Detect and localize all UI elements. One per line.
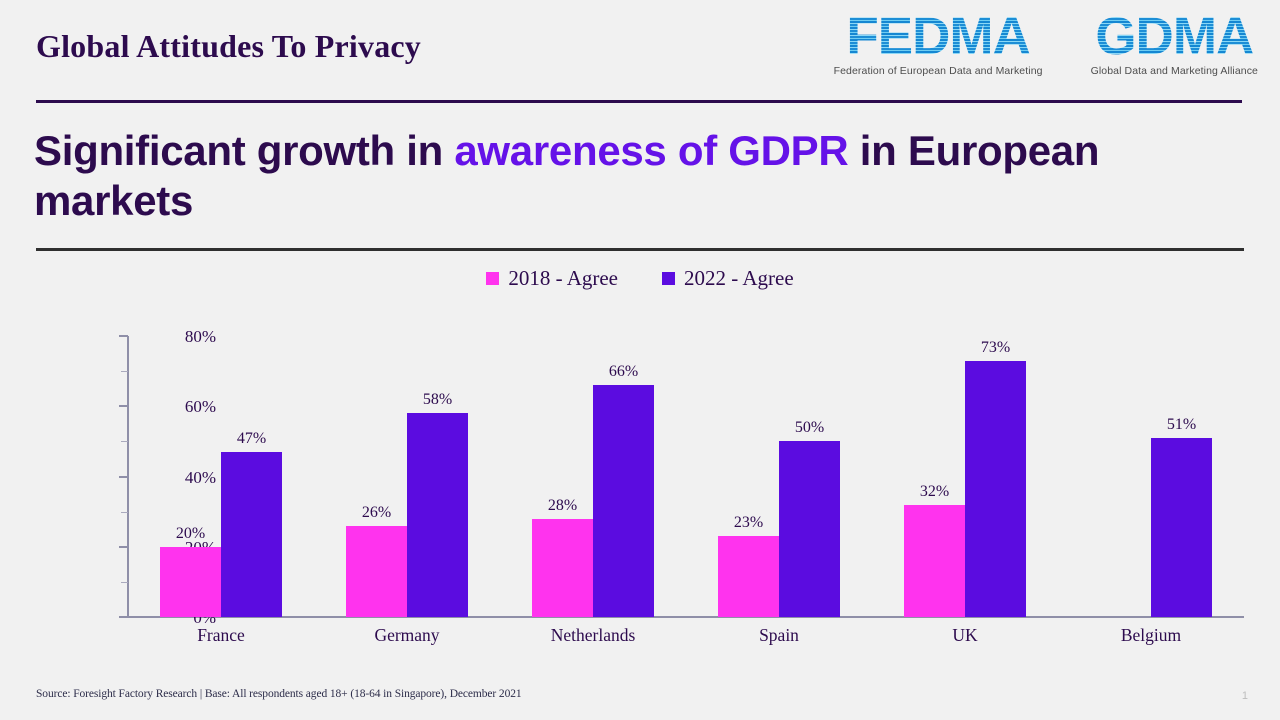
bar-value-label: 58% <box>387 391 488 409</box>
bar-france-2018[interactable] <box>160 547 221 617</box>
x-axis-label-belgium: Belgium <box>1058 625 1244 646</box>
bar-uk-2022[interactable] <box>965 361 1026 617</box>
page-number: 1 <box>1242 690 1248 702</box>
x-axis-label-netherlands: Netherlands <box>500 625 686 646</box>
bar-value-label: 66% <box>573 363 674 381</box>
bar-spain-2022[interactable] <box>779 441 840 617</box>
bar-netherlands-2022[interactable] <box>593 385 654 617</box>
x-axis-label-germany: Germany <box>314 625 500 646</box>
y-axis-minor-tick <box>121 582 128 583</box>
bar-germany-2022[interactable] <box>407 413 468 617</box>
x-axis-label-spain: Spain <box>686 625 872 646</box>
bar-germany-2018[interactable] <box>346 526 407 617</box>
bar-value-label: 50% <box>759 419 860 437</box>
bar-france-2022[interactable] <box>221 452 282 617</box>
x-axis-line <box>127 616 1244 618</box>
y-axis-tick <box>119 405 128 407</box>
y-axis-tick-label: 80% <box>146 327 216 347</box>
y-axis-tick <box>119 335 128 337</box>
y-axis-minor-tick <box>121 512 128 513</box>
bar-value-label: 51% <box>1131 416 1232 434</box>
y-axis-tick <box>119 616 128 618</box>
bar-belgium-2022[interactable] <box>1151 438 1212 617</box>
source-note: Source: Foresight Factory Research | Bas… <box>36 688 522 700</box>
bar-value-label: 47% <box>201 430 302 448</box>
x-axis-label-france: France <box>128 625 314 646</box>
y-axis-tick-label: 60% <box>146 397 216 417</box>
bar-uk-2018[interactable] <box>904 505 965 617</box>
y-axis-tick <box>119 476 128 478</box>
bar-chart: 0%20%40%60%80% 20%47%26%58%28%66%23%50%3… <box>0 0 1280 720</box>
y-axis-minor-tick <box>121 371 128 372</box>
bar-value-label: 73% <box>945 339 1046 357</box>
bar-spain-2018[interactable] <box>718 536 779 617</box>
bar-netherlands-2018[interactable] <box>532 519 593 617</box>
x-axis-label-uk: UK <box>872 625 1058 646</box>
y-axis-tick-label: 40% <box>146 468 216 488</box>
y-axis-tick <box>119 546 128 548</box>
y-axis-minor-tick <box>121 441 128 442</box>
